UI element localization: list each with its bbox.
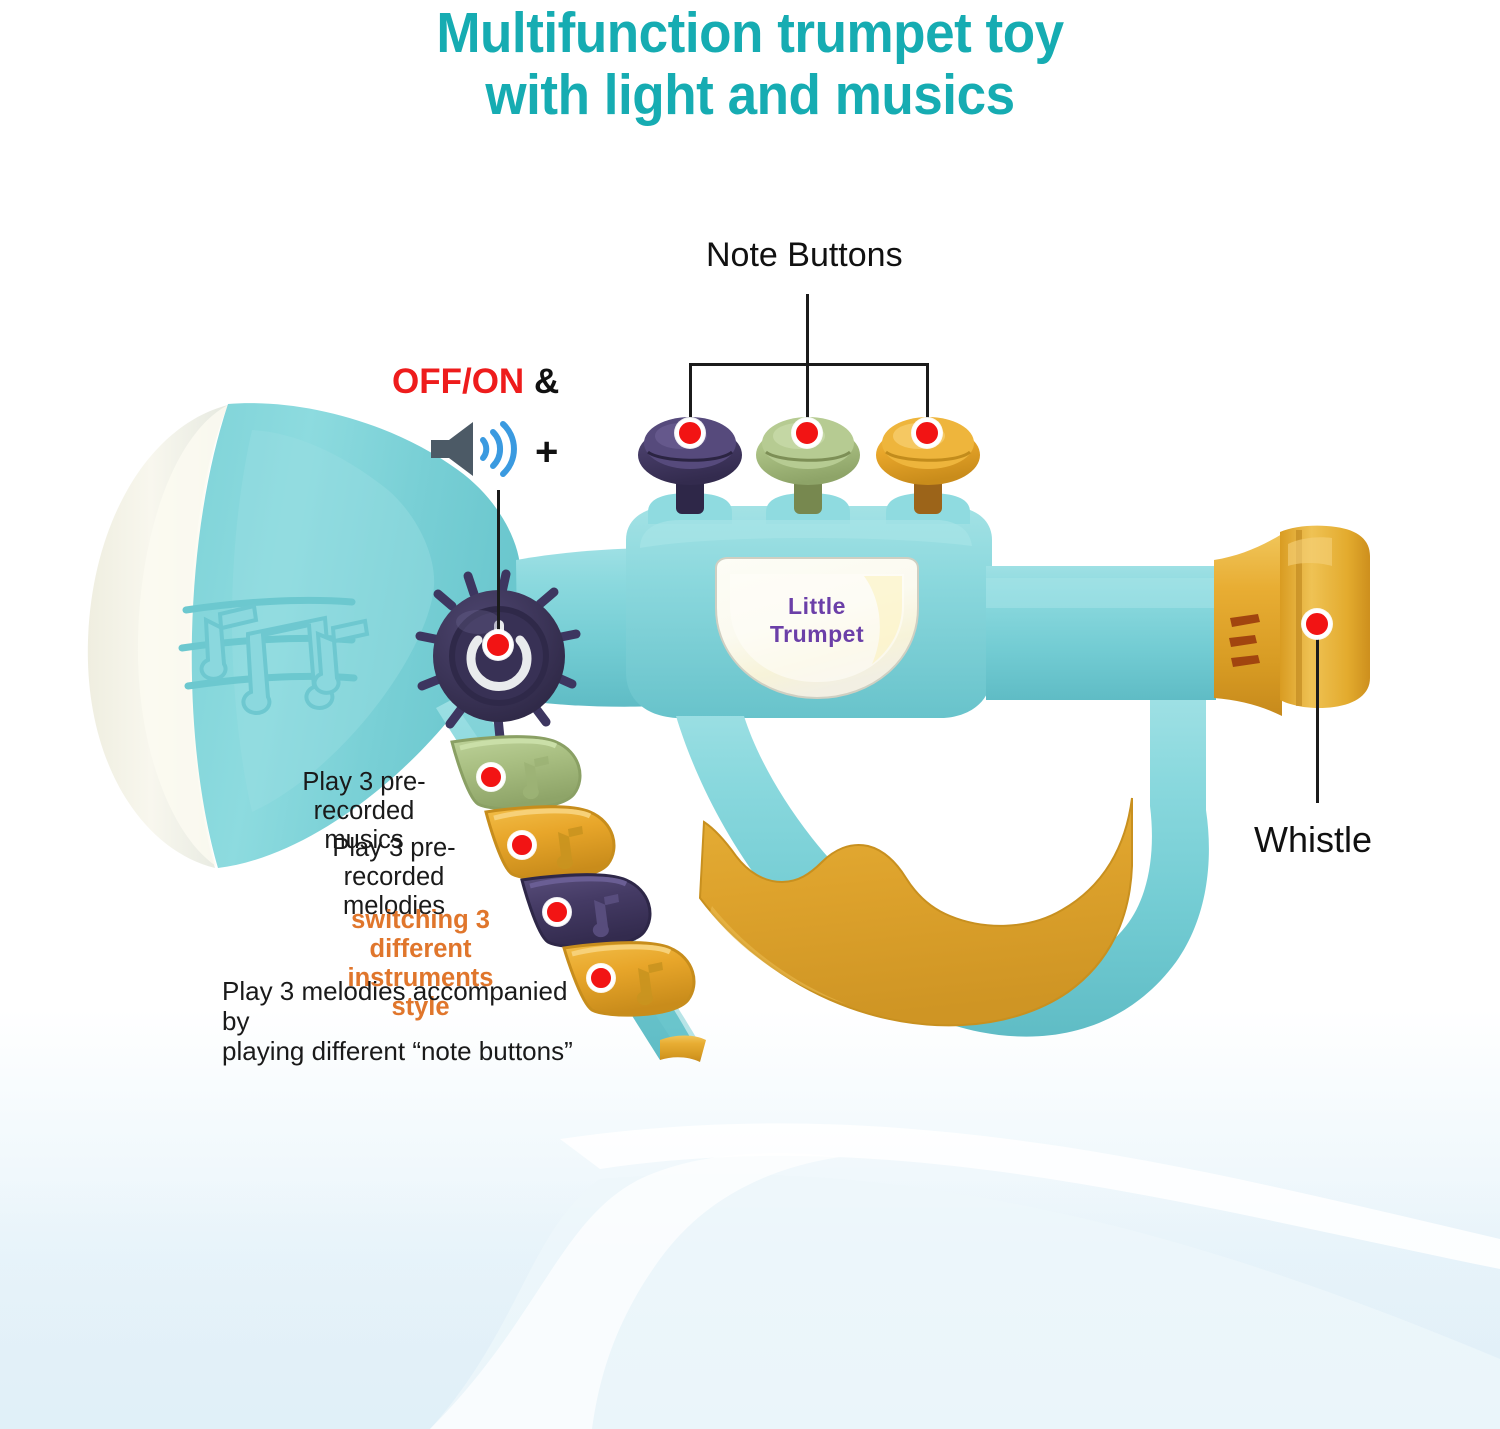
feature-label-accompany: Play 3 melodies accompanied by playing d… — [222, 976, 584, 1066]
fn-button-gold-1 — [486, 807, 614, 879]
feature-melodies-line1: Play 3 pre-recorded — [332, 834, 455, 891]
leader-power-button — [497, 490, 500, 645]
plus-sign: + — [535, 432, 558, 472]
marker-valve-green — [792, 418, 822, 448]
feature-instruments-line1: switching 3 different — [351, 906, 490, 963]
marker-power-button — [483, 630, 513, 660]
speaker-icon — [425, 418, 535, 480]
fn-button-navy — [522, 875, 650, 947]
badge-line2: Trumpet — [770, 621, 864, 647]
whistle-mouthpiece — [1214, 526, 1370, 716]
marker-fn-gold-2 — [587, 964, 615, 992]
callout-whistle: Whistle — [1254, 820, 1372, 859]
whistle-slots — [1229, 614, 1260, 667]
feature-accompany-line2: playing different “note buttons” — [222, 1036, 573, 1066]
main-tube-right — [986, 566, 1216, 700]
feature-musics-line1: Play 3 pre-recorded — [302, 768, 425, 825]
trumpet-toy-illustration — [0, 0, 1500, 1429]
feature-accompany-line1: Play 3 melodies accompanied by — [222, 976, 567, 1036]
marker-whistle — [1302, 609, 1332, 639]
marker-fn-navy — [543, 898, 571, 926]
marker-valve-purple — [675, 418, 705, 448]
onoff-text: OFF/ON — [392, 362, 524, 401]
marker-valve-gold — [912, 418, 942, 448]
infographic-canvas: Multifunction trumpet toy with light and… — [0, 0, 1500, 1429]
callout-note-buttons: Note Buttons — [706, 236, 903, 275]
leader-whistle — [1316, 635, 1319, 803]
ampersand-text: & — [534, 362, 559, 401]
grip-loop — [676, 700, 1209, 1037]
marker-fn-green — [477, 763, 505, 791]
leader-note-buttons-cross — [689, 363, 929, 366]
grip-gold-nub — [660, 1036, 706, 1063]
marker-fn-gold-1 — [508, 831, 536, 859]
badge-line1: Little — [788, 593, 846, 619]
fn-button-green — [452, 737, 580, 809]
callout-power-onoff: OFF/ON & — [392, 362, 559, 402]
brand-badge-text: Little Trumpet — [716, 592, 918, 648]
speaker-volume-icon-wrap: + — [425, 418, 565, 480]
